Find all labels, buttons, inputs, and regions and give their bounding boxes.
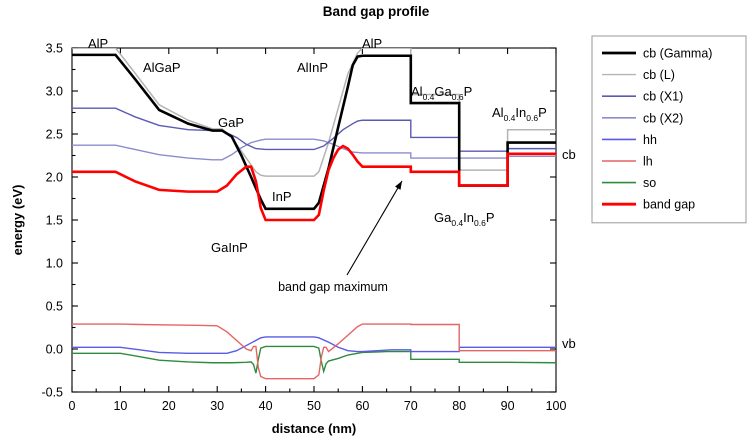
legend-label: cb (X1) — [643, 90, 683, 104]
alloy-label-al04in06p: Al0.4In0.6P — [492, 105, 547, 123]
curves-layer — [72, 48, 556, 379]
legend-label: cb (L) — [643, 68, 675, 82]
y-axis-label: energy (eV) — [10, 185, 25, 256]
x-tick-label: 70 — [404, 399, 418, 413]
material-label-GaInP: GaInP — [211, 240, 248, 255]
legend-label: hh — [643, 133, 657, 147]
x-tick-label: 20 — [162, 399, 176, 413]
cb-label: cb — [562, 147, 576, 162]
x-tick-label: 90 — [501, 399, 515, 413]
y-tick-label: -0.5 — [41, 386, 63, 400]
legend-label: cb (X2) — [643, 111, 683, 125]
y-tick-label: 1.5 — [46, 214, 63, 228]
y-tick-label: 0.0 — [46, 343, 63, 357]
x-tick-label: 10 — [113, 399, 127, 413]
x-tick-label: 0 — [69, 399, 76, 413]
material-label-GaP: GaP — [218, 115, 244, 130]
material-label-InP: InP — [272, 189, 292, 204]
legend-box — [592, 36, 746, 223]
series-line — [72, 108, 556, 151]
alloy-label-ga04in06p: Ga0.4In0.6P — [434, 210, 495, 228]
x-tick-label: 40 — [259, 399, 273, 413]
legend-label: band gap — [643, 198, 695, 212]
x-tick-label: 80 — [452, 399, 466, 413]
x-tick-label: 60 — [355, 399, 369, 413]
y-tick-label: 1.0 — [46, 257, 63, 271]
x-tick-label: 50 — [307, 399, 321, 413]
material-label-AlInP: AlInP — [297, 60, 328, 75]
material-label-AlP-left: AlP — [88, 36, 108, 51]
y-tick-label: 3.0 — [46, 85, 63, 99]
alloy-label-al04ga06p: Al0.4Ga0.6P — [411, 84, 472, 102]
band-gap-profile-svg: Band gap profile-0.50.00.51.01.52.02.53.… — [0, 0, 752, 441]
legend-label: cb (Gamma) — [643, 47, 712, 61]
annotation-arrow — [347, 181, 402, 275]
chart-figure: Band gap profile-0.50.00.51.01.52.02.53.… — [0, 0, 752, 441]
annotation-arrowhead — [395, 181, 402, 190]
y-tick-label: 0.5 — [46, 300, 63, 314]
legend-label: lh — [643, 155, 653, 169]
material-label-AlP-right: AlP — [362, 36, 382, 51]
series-line — [72, 324, 556, 379]
material-label-AlGaP: AlGaP — [143, 60, 181, 75]
x-tick-label: 30 — [210, 399, 224, 413]
vb-label: vb — [562, 336, 576, 351]
chart-title: Band gap profile — [323, 4, 430, 19]
y-tick-label: 2.0 — [46, 171, 63, 185]
annotation-band-gap-maximum: band gap maximum — [278, 280, 388, 294]
legend-label: so — [643, 176, 656, 190]
y-tick-label: 3.5 — [46, 42, 63, 56]
x-tick-label: 100 — [546, 399, 567, 413]
y-tick-label: 2.5 — [46, 128, 63, 142]
x-axis-label: distance (nm) — [272, 421, 357, 436]
